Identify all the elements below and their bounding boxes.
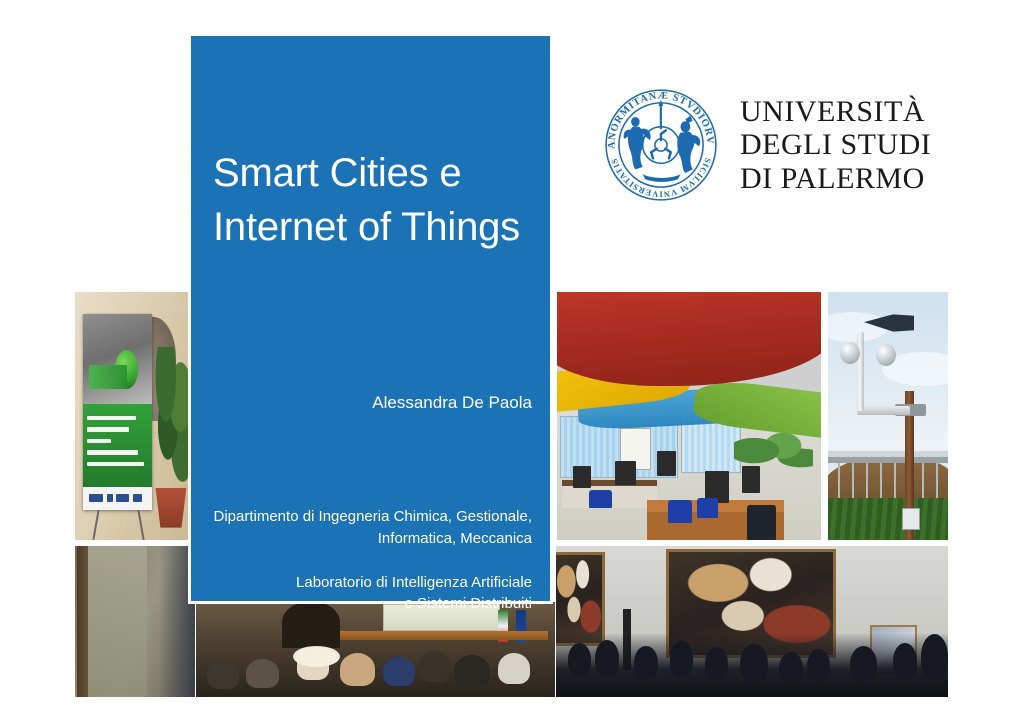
university-name-line-2: DEGLI STUDI	[740, 128, 931, 162]
lab-canopy-red	[557, 292, 821, 386]
university-name: UNIVERSITÀ DEGLI STUDI DI PALERMO	[740, 95, 931, 196]
audience-person	[207, 661, 239, 690]
audience-person	[498, 653, 530, 683]
author-name: Alessandra De Paola	[213, 393, 532, 413]
photo-banner	[75, 292, 192, 540]
banner-legs	[86, 510, 152, 540]
slide-canvas: Smart Cities e Internet of Things Alessa…	[0, 0, 1024, 724]
photo-weather-station	[828, 292, 948, 540]
university-name-line-1: UNIVERSITÀ	[740, 95, 931, 129]
photo-audience	[196, 602, 555, 697]
department-line-1: Dipartimento di Ingegneria Chimica, Gest…	[201, 506, 532, 528]
lab-monitor	[615, 461, 636, 486]
weather-arm	[857, 406, 910, 415]
lab-chair	[668, 500, 692, 522]
audience-person	[340, 653, 376, 685]
university-name-line-3: DI PALERMO	[740, 162, 931, 196]
weather-viaduct	[828, 451, 948, 463]
hall-person	[705, 647, 729, 680]
department-line-2: Informatica, Meccanica	[201, 528, 532, 550]
lab-chair	[589, 490, 613, 507]
lab-monitor	[742, 466, 760, 493]
weather-mast	[857, 332, 864, 411]
audience-person	[383, 657, 415, 686]
affiliation-block: Dipartimento di Ingegneria Chimica, Gest…	[201, 506, 532, 615]
hall-person	[595, 640, 619, 676]
lab-chair	[747, 505, 776, 540]
banner-rollup	[83, 314, 152, 510]
university-seal-icon: PANORMITANÆ STVDIORVM SICILVM VNIVERSITA…	[598, 84, 724, 206]
lab-monitor	[573, 466, 591, 488]
banner-sponsor-bar	[83, 487, 152, 511]
banner-green-panel	[83, 404, 152, 486]
weather-datalogger	[902, 508, 920, 530]
hall-person	[670, 641, 694, 677]
hall-person	[740, 644, 767, 683]
weather-vineyard	[828, 498, 948, 540]
hall-person	[850, 646, 877, 682]
banner-plant	[149, 347, 191, 491]
audience-hat	[293, 646, 340, 667]
photo-courtyard	[75, 546, 195, 697]
hall-person	[634, 646, 658, 679]
hall-person	[568, 643, 592, 676]
audience-person	[419, 651, 451, 681]
courtyard-beam	[77, 546, 88, 697]
audience-person	[246, 659, 278, 688]
slide-title: Smart Cities e Internet of Things	[213, 146, 528, 254]
hall-person	[779, 652, 803, 685]
hall-person	[921, 634, 948, 679]
title-panel: Smart Cities e Internet of Things Alessa…	[188, 33, 553, 604]
audience-table	[340, 631, 548, 641]
lab-line-1: Laboratorio di Intelligenza Artificiale	[201, 572, 532, 594]
courtyard-wall	[85, 546, 147, 697]
photo-lab-office	[557, 292, 821, 540]
hall-person	[893, 643, 917, 679]
hall-person	[807, 649, 831, 682]
audience-person	[454, 655, 490, 687]
painting-left	[556, 552, 605, 646]
university-logo: PANORMITANÆ STVDIORVM SICILVM VNIVERSITA…	[598, 84, 938, 206]
lab-monitor	[657, 451, 675, 476]
lab-chair	[697, 498, 718, 518]
photo-hall-paintings	[556, 546, 948, 697]
banner-logo-text	[89, 365, 128, 389]
lab-line-2: e Sistemi Distribuiti	[201, 593, 532, 615]
